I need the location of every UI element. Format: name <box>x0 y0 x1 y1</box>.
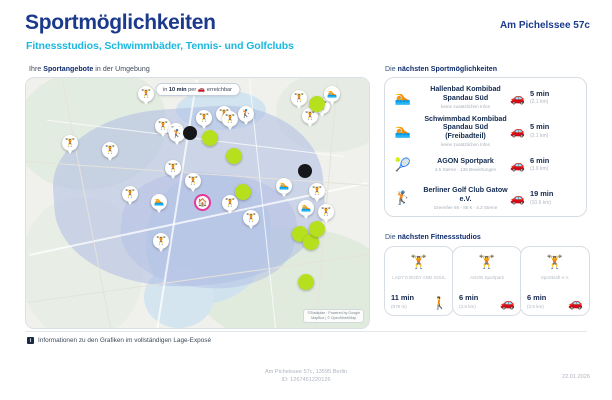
dumbbell-icon: 🏋 <box>125 190 135 198</box>
isochrone-badge-time: 10 min <box>169 87 187 93</box>
page-subtitle: Fitnessstudios, Schwimmbäder, Tennis- un… <box>26 40 294 52</box>
sports-section-bold: nächsten Sportmöglichkeiten <box>398 66 497 73</box>
map-marker-golf[interactable]: 🏌 <box>238 106 254 122</box>
footer-id: ID: 1267451220126 <box>0 376 612 384</box>
fitness-section-label: Die nächsten Fitnessstudios <box>385 234 481 241</box>
map-marker-home[interactable]: 🏠 <box>194 194 211 211</box>
dumbbell-icon: 🏋 <box>294 94 304 102</box>
sports-item-name: Berliner Golf Club Gatow e.V. <box>423 186 508 203</box>
sports-item-sub: Greenfee 65 - 85 € · 4.3 Sterne <box>423 205 508 211</box>
pool-icon: 🏊 <box>385 123 421 139</box>
map-container[interactable]: 🏋🏋🏋🏋🏋🏋🏋🏋🏋🏋🏋🏋🏋🏋🏋🏋🏋🏋🏋🏊🏊🏊🏊🏌🏌🏠 in 10 min per… <box>25 77 370 329</box>
map-marker-gym[interactable]: 🏋 <box>318 204 334 220</box>
home-icon: 🏠 <box>198 199 208 207</box>
fitness-card-name: Sportkraft e.V. <box>525 275 585 281</box>
pool-icon: 🏊 <box>279 182 289 190</box>
dumbbell-icon: 🏋 <box>521 254 589 270</box>
sports-item-name: Hallenbad Kombibad Spandau Süd <box>423 85 508 102</box>
map-marker-pool[interactable]: 🏊 <box>276 178 292 194</box>
fitness-section-prefix: Die <box>385 234 398 241</box>
sports-list-item[interactable]: 🎾AGON Sportpark4.5 Sterne · 135 Bewertun… <box>385 148 586 181</box>
car-icon: 🚗 <box>510 125 525 137</box>
map-marker-tennis[interactable] <box>235 184 251 200</box>
page-title: Sportmöglichkeiten <box>25 11 216 35</box>
sports-item-distance: (2.1 km) <box>530 99 549 105</box>
map-marker-gym[interactable]: 🏋 <box>138 86 154 102</box>
sports-item-time: 19 min <box>530 190 553 199</box>
fitness-card[interactable]: 🏋LADY'S BODY AND SOUL11 min(878 m)🚶 <box>384 246 454 316</box>
sports-list-item[interactable]: 🏌Berliner Golf Club Gatow e.V.Greenfee 6… <box>385 182 586 215</box>
map-marker-tennis[interactable] <box>309 96 325 112</box>
dumbbell-icon: 🏋 <box>65 139 75 147</box>
info-note: i Informationen zu den Grafiken im volls… <box>27 337 211 344</box>
map-marker-cluster[interactable] <box>183 126 197 140</box>
map-caption: Ihre Sportangebote in der Umgebung <box>29 66 150 73</box>
dumbbell-icon: 🏋 <box>225 199 235 207</box>
fitness-card-name: AGON Sportpark <box>457 275 517 281</box>
dumbbell-icon: 🏋 <box>385 254 453 270</box>
map-marker-gym[interactable]: 🏋 <box>185 173 201 189</box>
isochrone-badge-middle: per <box>187 87 198 93</box>
info-icon: i <box>27 337 34 344</box>
sports-item-sub: keine zusätzlichen Infos <box>423 142 508 148</box>
map-marker-pool[interactable]: 🏊 <box>324 86 340 102</box>
car-icon: 🚗 <box>510 92 525 104</box>
map-caption-prefix: Ihre <box>29 66 43 73</box>
dumbbell-icon: 🏋 <box>453 254 521 270</box>
dumbbell-icon: 🏋 <box>312 187 322 195</box>
sports-item-distance: (3.9 km) <box>530 166 549 172</box>
fitness-card-distance: (878 m) <box>391 304 414 309</box>
footer-identity: Am Pichelssee 57c, 13595 Berlin ID: 1267… <box>0 368 612 385</box>
sportmoeglichkeiten-page: Sportmöglichkeiten Fitnessstudios, Schwi… <box>0 0 612 400</box>
pool-icon: 🏊 <box>154 198 164 206</box>
header-address: Am Pichelssee 57c <box>500 20 590 31</box>
map-marker-gym[interactable]: 🏋 <box>165 160 181 176</box>
car-icon: 🚗 <box>568 297 583 309</box>
isochrone-badge-suffix: erreichbar <box>205 87 232 93</box>
map-canvas[interactable]: 🏋🏋🏋🏋🏋🏋🏋🏋🏋🏋🏋🏋🏋🏋🏋🏋🏋🏋🏋🏊🏊🏊🏊🏌🏌🏠 in 10 min per… <box>26 78 369 328</box>
map-marker-gym[interactable]: 🏋 <box>222 111 238 127</box>
map-marker-tennis[interactable] <box>309 221 325 237</box>
footer-date: 22.01.2026 <box>562 374 590 380</box>
map-marker-gym[interactable]: 🏋 <box>309 183 325 199</box>
dumbbell-icon: 🏋 <box>141 90 151 98</box>
sports-list-item[interactable]: 🏊Schwimmbad Kombibad Spandau Süd (Freiba… <box>385 115 586 148</box>
pool-icon: 🏊 <box>327 90 337 98</box>
map-marker-cluster[interactable] <box>298 164 312 178</box>
sports-list-item[interactable]: 🏊Hallenbad Kombibad Spandau Südkeine zus… <box>385 81 586 114</box>
fitness-card-distance: (3.5 km) <box>527 304 546 309</box>
dumbbell-icon: 🏋 <box>188 177 198 185</box>
map-attribution-line2: MapBox | © OpenStreetMap <box>307 316 360 321</box>
golf-icon: 🏌 <box>241 110 251 118</box>
fitness-card-time: 11 min <box>391 294 414 303</box>
sports-item-time: 5 min <box>530 123 549 132</box>
fitness-section-bold: nächsten Fitnessstudios <box>398 234 481 241</box>
footer-divider <box>25 331 587 332</box>
sports-item-sub: keine zusätzlichen Infos <box>423 104 508 110</box>
dumbbell-icon: 🏋 <box>156 237 166 245</box>
map-marker-gym[interactable]: 🏋 <box>222 195 238 211</box>
dumbbell-icon: 🏋 <box>168 164 178 172</box>
map-marker-gym[interactable]: 🏋 <box>291 90 307 106</box>
pool-icon: 🏊 <box>301 204 311 212</box>
map-caption-bold: Sportangebote <box>43 66 93 73</box>
sports-item-time: 6 min <box>530 157 549 166</box>
dumbbell-icon: 🏋 <box>199 114 209 122</box>
fitness-card-time: 6 min <box>527 294 546 303</box>
map-marker-gym[interactable]: 🏋 <box>153 233 169 249</box>
tennis-ball-icon: 🎾 <box>385 157 421 173</box>
sports-card: 🏊Hallenbad Kombibad Spandau Südkeine zus… <box>384 77 587 217</box>
map-marker-pool[interactable]: 🏊 <box>298 200 314 216</box>
map-attribution: ©Stadtplan · Powered by Google MapBox | … <box>303 309 364 323</box>
map-marker-tennis[interactable] <box>202 130 218 146</box>
fitness-card[interactable]: 🏋Sportkraft e.V.6 min(3.5 km)🚗 <box>520 246 590 316</box>
info-note-text: Informationen zu den Grafiken im vollstä… <box>38 337 211 344</box>
dumbbell-icon: 🏋 <box>225 115 235 123</box>
map-marker-gym[interactable]: 🏋 <box>122 186 138 202</box>
sports-item-name: Schwimmbad Kombibad Spandau Süd (Freibad… <box>423 115 508 141</box>
map-marker-gym[interactable]: 🏋 <box>196 110 212 126</box>
car-icon: 🚗 <box>510 159 525 171</box>
map-caption-suffix: in der Umgebung <box>93 66 149 73</box>
sports-item-name: AGON Sportpark <box>423 157 508 166</box>
sports-item-sub: 4.5 Sterne · 135 Bewertungen <box>423 167 508 173</box>
map-marker-tennis[interactable] <box>226 148 242 164</box>
footer-address: Am Pichelssee 57c, 13595 Berlin <box>0 368 612 376</box>
page-header: Sportmöglichkeiten Fitnessstudios, Schwi… <box>0 0 612 62</box>
fitness-card-time: 6 min <box>459 294 478 303</box>
sports-item-time: 5 min <box>530 90 549 99</box>
fitness-card-distance: (3.9 km) <box>459 304 478 309</box>
dumbbell-icon: 🏋 <box>321 208 331 216</box>
sports-item-distance: (2.1 km) <box>530 133 549 139</box>
car-icon: 🚗 <box>510 192 525 204</box>
map-marker-gym[interactable]: 🏋 <box>62 135 78 151</box>
pedestrian-icon: 🚶 <box>432 297 447 309</box>
fitness-card[interactable]: 🏋AGON Sportpark6 min(3.9 km)🚗 <box>452 246 522 316</box>
sports-section-prefix: Die <box>385 66 398 73</box>
map-marker-gym[interactable]: 🏋 <box>243 210 259 226</box>
sports-section-label: Die nächsten Sportmöglichkeiten <box>385 66 497 73</box>
golf-icon: 🏌 <box>385 190 421 206</box>
pool-icon: 🏊 <box>385 90 421 106</box>
dumbbell-icon: 🏋 <box>246 214 256 222</box>
fitness-list[interactable]: 🏋LADY'S BODY AND SOUL11 min(878 m)🚶🏋AGON… <box>384 246 587 316</box>
map-marker-tennis[interactable] <box>298 274 314 290</box>
dumbbell-icon: 🏋 <box>305 112 315 120</box>
map-marker-pool[interactable]: 🏊 <box>151 194 167 210</box>
fitness-card-name: LADY'S BODY AND SOUL <box>389 275 449 281</box>
isochrone-badge: in 10 min per 🚗 erreichbar <box>155 83 240 96</box>
map-marker-gym[interactable]: 🏋 <box>102 142 118 158</box>
dumbbell-icon: 🏋 <box>158 122 168 130</box>
sports-item-distance: (10.6 km) <box>530 200 553 206</box>
dumbbell-icon: 🏋 <box>105 146 115 154</box>
golf-icon: 🏌 <box>172 130 182 138</box>
car-icon: 🚗 <box>500 297 515 309</box>
